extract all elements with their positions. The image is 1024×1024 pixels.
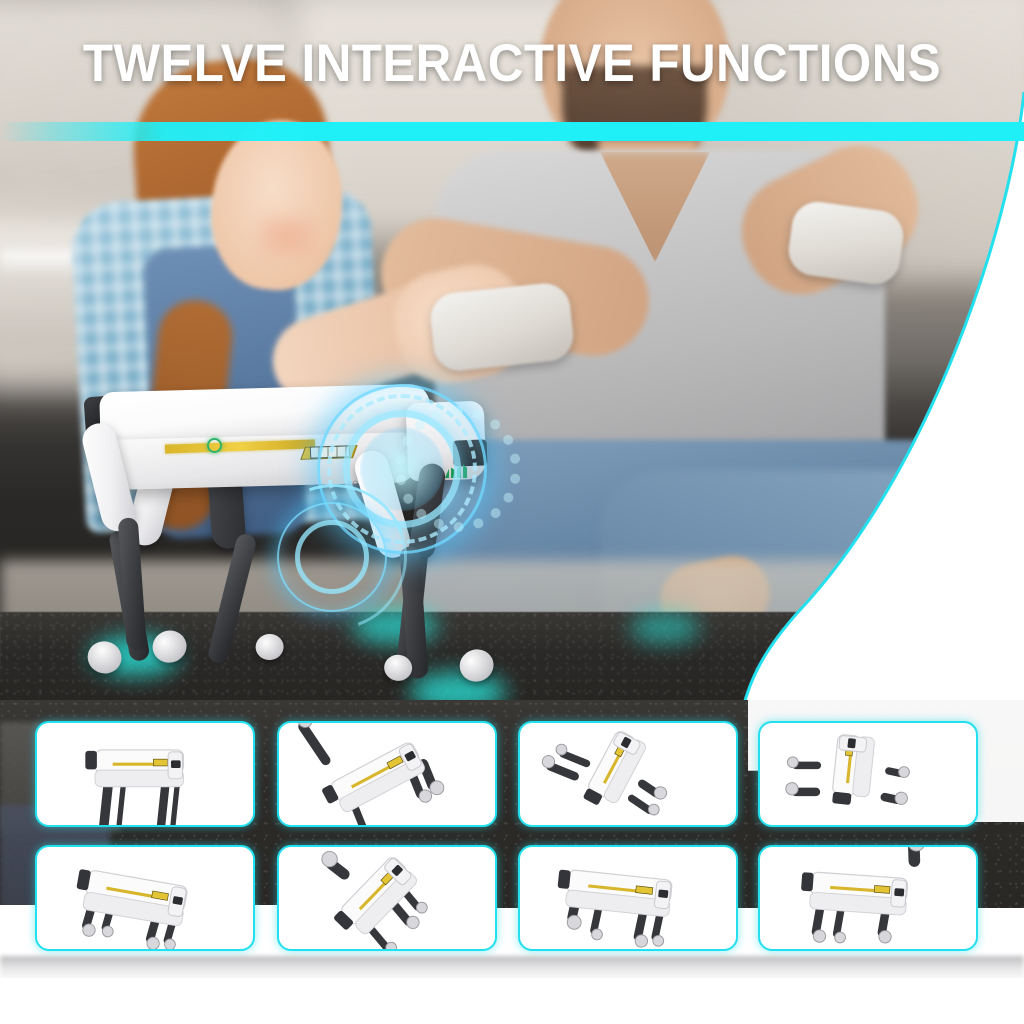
thumb-robot-handstand xyxy=(760,723,976,825)
hud-ring-lower-inner-icon xyxy=(295,520,369,594)
function-thumbnail-stand[interactable] xyxy=(35,721,255,827)
hud-tick-ring-icon xyxy=(395,406,521,532)
thumb-robot-crouch xyxy=(37,847,253,949)
function-thumbnail-bow[interactable] xyxy=(518,845,738,951)
function-thumbnail-stretch-forward[interactable] xyxy=(277,721,497,827)
thumb-robot-sit-up xyxy=(279,847,495,949)
robot-shin xyxy=(206,532,257,665)
function-thumbnail-wave-leg[interactable] xyxy=(758,845,978,951)
bottom-white-area xyxy=(0,978,1024,1024)
thumb-robot-rear-up xyxy=(520,723,736,825)
foot-glow-4 xyxy=(630,612,700,644)
robot-dog-hero: ROBOT MAX xyxy=(55,380,575,710)
robot-foot xyxy=(84,638,125,677)
function-thumbnail-rear-up[interactable] xyxy=(518,721,738,827)
thumb-robot-stand xyxy=(37,723,253,825)
product-feature-page: ROBOT MAX xyxy=(0,0,1024,1024)
thumb-robot-wave-leg xyxy=(760,847,976,949)
title-accent-bar xyxy=(0,122,1024,141)
girl-cheek xyxy=(258,215,318,259)
page-title: TWELVE INTERACTIVE FUNCTIONS xyxy=(36,34,988,94)
robot-foot xyxy=(255,633,285,661)
title-banner: TWELVE INTERACTIVE FUNCTIONS xyxy=(0,34,1024,110)
robot-foot xyxy=(456,645,498,685)
power-led-icon xyxy=(207,438,222,453)
thumb-robot-stretch-forward xyxy=(279,723,495,825)
robot-foot xyxy=(149,627,190,666)
game-controller-front xyxy=(428,281,575,373)
function-thumbnail-sit-up[interactable] xyxy=(277,845,497,951)
function-thumbnail-handstand[interactable] xyxy=(758,721,978,827)
function-thumbnail-crouch[interactable] xyxy=(35,845,255,951)
thumb-robot-bow xyxy=(520,847,736,949)
